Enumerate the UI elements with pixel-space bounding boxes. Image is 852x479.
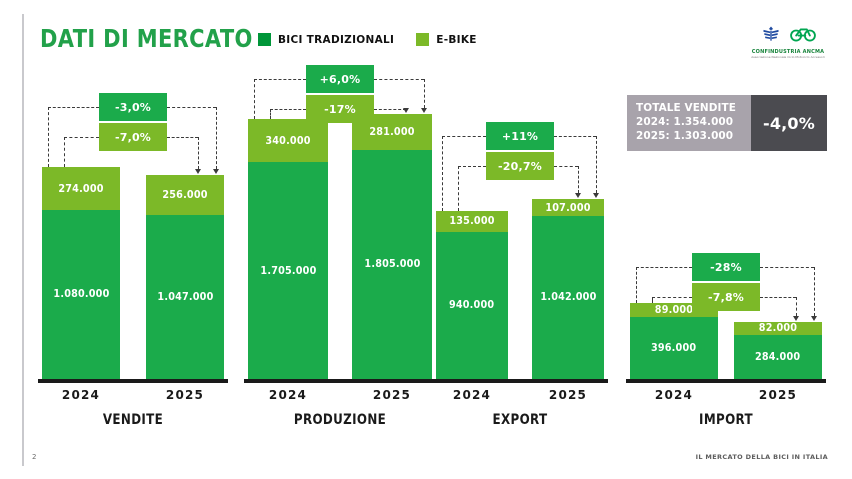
connector-horizontal-left-traditional <box>48 107 99 108</box>
x-axis-label-2025: 2025 <box>734 388 822 402</box>
connector-horizontal-left-ebike <box>458 166 486 167</box>
chart-group-import: 89.000396.000202482.000284.0002025IMPORT… <box>0 0 852 479</box>
bar-value-ebike: 82.000 <box>759 322 797 334</box>
connector-horizontal-left-traditional <box>442 136 486 137</box>
connector-arrow-ebike <box>793 316 799 321</box>
slide-canvas: DATI DI MERCATO BICI TRADIZIONALI E-BIKE <box>0 0 852 479</box>
delta-badge-traditional: +11% <box>486 122 554 150</box>
connector-horizontal-left-ebike <box>64 137 99 138</box>
bar-import-2024: 89.000396.000 <box>630 303 718 379</box>
connector-arrow-ebike <box>575 193 581 198</box>
connector-arrow-traditional <box>421 108 427 113</box>
bar-segment-ebike: 82.000 <box>734 322 822 335</box>
delta-badge-traditional-text: +11% <box>502 130 538 143</box>
connector-horizontal-right-ebike <box>374 109 406 110</box>
connector-vertical-right-traditional <box>814 267 815 316</box>
delta-badge-ebike-text: -7,0% <box>115 131 151 144</box>
delta-badge-traditional-text: -28% <box>710 261 742 274</box>
connector-vertical-left-traditional <box>48 107 49 167</box>
delta-badge-traditional-text: +6,0% <box>320 73 361 86</box>
connector-horizontal-right-ebike <box>760 297 796 298</box>
delta-badge-traditional: +6,0% <box>306 65 374 93</box>
delta-badge-ebike: -17% <box>306 95 374 123</box>
connector-vertical-right-ebike <box>796 297 797 316</box>
connector-vertical-left-traditional <box>254 79 255 119</box>
connector-horizontal-right-traditional <box>554 136 596 137</box>
delta-badge-ebike-text: -17% <box>324 103 356 116</box>
x-axis-label-2024: 2024 <box>630 388 718 402</box>
delta-badge-traditional: -28% <box>692 253 760 281</box>
delta-badge-traditional: -3,0% <box>99 93 167 121</box>
connector-arrow-ebike <box>403 108 409 113</box>
connector-arrow-traditional <box>593 193 599 198</box>
connector-vertical-left-ebike <box>270 109 271 119</box>
delta-badge-ebike-text: -20,7% <box>498 160 542 173</box>
connector-horizontal-right-traditional <box>167 107 216 108</box>
connector-horizontal-left-ebike <box>270 109 306 110</box>
delta-badge-traditional-text: -3,0% <box>115 101 151 114</box>
connector-horizontal-left-ebike <box>652 297 692 298</box>
bar-segment-traditional: 396.000 <box>630 317 718 379</box>
connector-horizontal-right-traditional <box>374 79 424 80</box>
page-number: 2 <box>32 453 36 461</box>
connector-arrow-ebike <box>195 169 201 174</box>
connector-arrow-traditional <box>213 169 219 174</box>
bar-value-traditional: 396.000 <box>651 342 696 354</box>
chart-baseline <box>626 379 826 383</box>
bar-segment-traditional: 284.000 <box>734 335 822 379</box>
connector-vertical-right-ebike <box>198 137 199 169</box>
connector-arrow-traditional <box>811 316 817 321</box>
connector-vertical-right-traditional <box>596 136 597 193</box>
connector-vertical-right-traditional <box>216 107 217 169</box>
footer-note: IL MERCATO DELLA BICI IN ITALIA <box>696 453 828 461</box>
delta-badge-ebike: -20,7% <box>486 152 554 180</box>
connector-horizontal-right-traditional <box>760 267 814 268</box>
connector-horizontal-left-traditional <box>636 267 692 268</box>
bar-value-ebike: 89.000 <box>655 304 693 316</box>
bar-value-traditional: 284.000 <box>755 351 800 363</box>
connector-vertical-left-ebike <box>458 166 459 211</box>
delta-badge-ebike-text: -7,8% <box>708 291 744 304</box>
connector-vertical-left-ebike <box>64 137 65 167</box>
connector-vertical-right-ebike <box>578 166 579 193</box>
chart-group-title: IMPORT <box>644 412 809 428</box>
connector-horizontal-right-ebike <box>167 137 198 138</box>
bar-import-2025: 82.000284.000 <box>734 322 822 379</box>
delta-badge-ebike: -7,0% <box>99 123 167 151</box>
delta-badge-ebike: -7,8% <box>692 283 760 311</box>
connector-vertical-right-traditional <box>424 79 425 108</box>
connector-vertical-left-traditional <box>636 267 637 303</box>
connector-horizontal-right-ebike <box>554 166 578 167</box>
connector-vertical-left-traditional <box>442 136 443 211</box>
connector-horizontal-left-traditional <box>254 79 306 80</box>
